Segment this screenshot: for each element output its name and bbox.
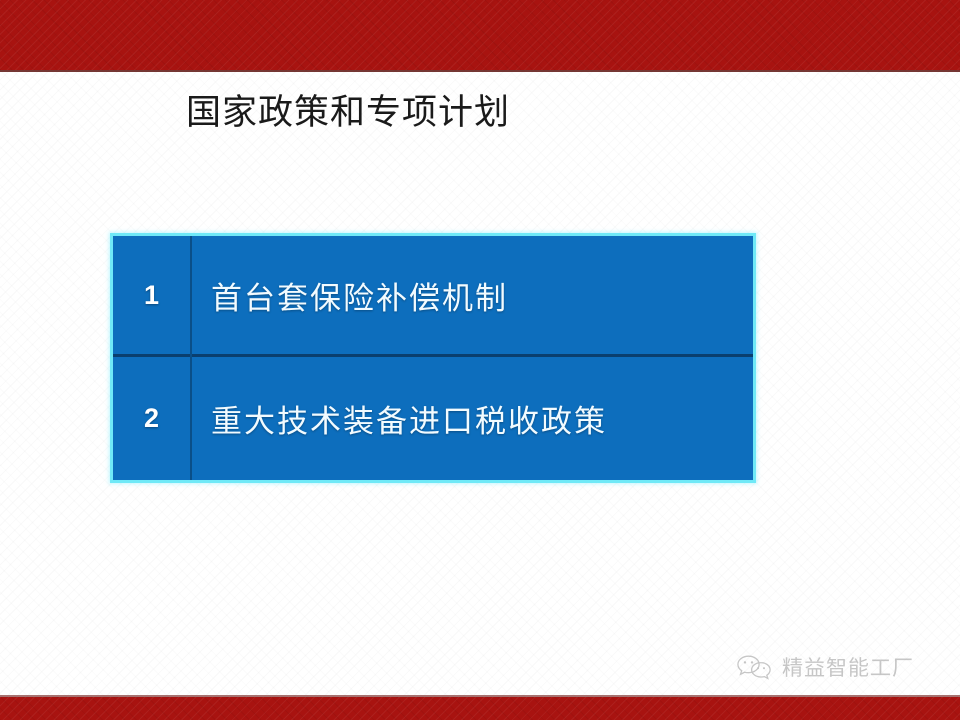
policy-table-border xyxy=(110,233,756,483)
slide-canvas: 国家政策和专项计划 1 首台套保险补偿机制 2 重大技术装备进口税收政策 xyxy=(0,0,960,720)
watermark: 精益智能工厂 xyxy=(734,652,914,682)
watermark-label: 精益智能工厂 xyxy=(782,652,914,682)
bottom-banner-texture xyxy=(0,697,960,720)
wechat-bubbles-icon xyxy=(734,653,774,681)
bottom-red-banner xyxy=(0,697,960,720)
top-banner-underline xyxy=(0,70,960,72)
banner-texture xyxy=(0,0,960,70)
policy-table: 1 首台套保险补偿机制 2 重大技术装备进口税收政策 xyxy=(110,233,756,483)
page-title: 国家政策和专项计划 xyxy=(186,90,510,136)
top-red-banner xyxy=(0,0,960,70)
